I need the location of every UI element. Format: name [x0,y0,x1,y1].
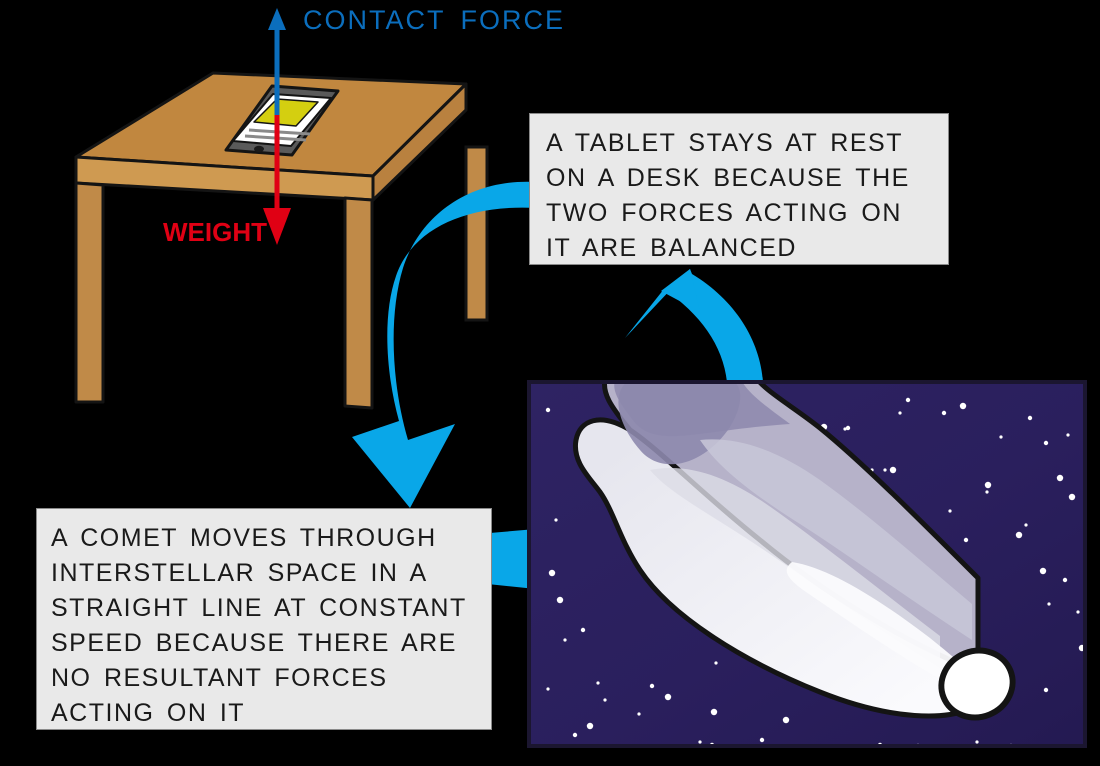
caption-line: TWO FORCES ACTING ON [546,196,934,231]
star [645,757,651,763]
star [1057,475,1063,481]
star [985,482,991,488]
star [587,723,593,729]
star [1053,750,1056,753]
star [975,740,978,743]
comet-caption-box: A COMET MOVES THROUGH INTERSTELLAR SPACE… [36,508,492,730]
star [942,411,946,415]
desk-leg-front-right [345,198,372,408]
star [1047,602,1050,605]
desk-leg-front-left [76,183,103,402]
star [554,518,557,521]
star [688,750,691,753]
star [1069,494,1075,500]
star [1016,532,1022,538]
star [546,408,550,412]
star [596,681,599,684]
space-panel [527,354,1090,766]
tablet-caption-box: A TABLET STAYS AT REST ON A DESK BECAUSE… [529,113,949,265]
star [883,468,886,471]
star [711,709,717,715]
star [1028,416,1032,420]
star [928,748,931,751]
caption-line: ON A DESK BECAUSE THE [546,161,934,196]
star [637,712,640,715]
tablet-home-button [254,146,264,152]
caption-line: SPEED BECAUSE THERE ARE [51,626,477,661]
star [999,435,1002,438]
star [698,740,701,743]
star [1040,568,1046,574]
caption-line: A TABLET STAYS AT REST [546,126,934,161]
star [1007,753,1010,756]
star [760,738,764,742]
star [1076,610,1079,613]
star [1063,578,1067,582]
weight-label: WEIGHT [163,217,267,248]
contact-force-label: CONTACT FORCE [303,5,565,36]
star [603,698,606,701]
star [898,411,901,414]
flow-arrow-large [352,182,537,508]
star [846,426,850,430]
star [563,638,566,641]
star [1044,688,1048,692]
star [1035,748,1038,751]
star [573,733,577,737]
star [985,490,988,493]
caption-line: ACTING ON IT [51,696,477,731]
star [549,570,555,576]
star [1024,523,1027,526]
star [808,750,812,754]
flow-arrow-small [625,269,763,382]
caption-line: IT ARE BALANCED [546,231,934,266]
star [665,694,671,700]
caption-line: A COMET MOVES THROUGH [51,521,477,556]
physics-diagram-canvas: CONTACT FORCE WEIGHT A TABLET STAYS AT R… [0,0,1100,766]
star [557,597,563,603]
star [964,538,968,542]
star [948,509,951,512]
star [714,661,717,664]
star [783,717,789,723]
star [906,398,910,402]
star [546,687,549,690]
star [581,628,585,632]
caption-line: STRAIGHT LINE AT CONSTANT [51,591,477,626]
star [960,403,966,409]
star [1066,433,1069,436]
star [890,467,896,473]
caption-line: NO RESULTANT FORCES [51,661,477,696]
caption-line: INTERSTELLAR SPACE IN A [51,556,477,591]
star [650,684,654,688]
star [670,376,673,379]
desk-leg-back-right [466,147,487,320]
star [1044,441,1048,445]
